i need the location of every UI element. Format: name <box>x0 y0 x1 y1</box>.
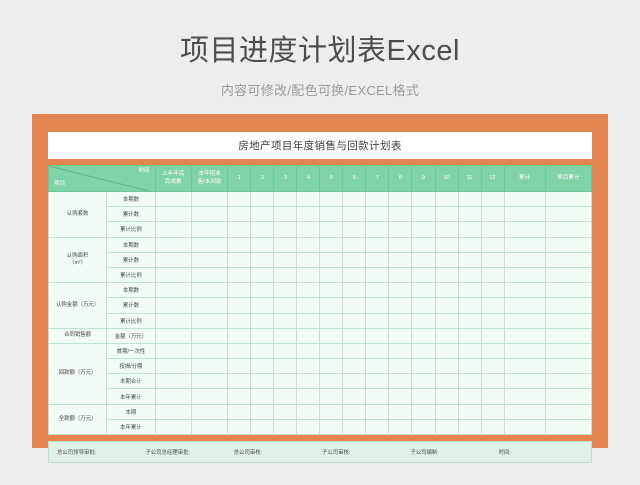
data-cell[interactable] <box>435 419 458 434</box>
data-cell[interactable] <box>155 267 191 282</box>
data-cell[interactable] <box>481 207 504 222</box>
data-cell[interactable] <box>251 374 274 389</box>
data-cell[interactable] <box>435 313 458 328</box>
row-sub-label: 本期数 <box>107 237 155 252</box>
data-cell[interactable] <box>320 404 343 419</box>
data-cell[interactable] <box>545 252 591 267</box>
data-cell[interactable] <box>274 237 297 252</box>
data-cell[interactable] <box>228 404 251 419</box>
data-cell[interactable] <box>192 207 228 222</box>
data-cell[interactable] <box>192 192 228 207</box>
row-sub-label: 本期合计 <box>107 374 155 389</box>
table-row[interactable]: 累计数 <box>49 207 592 222</box>
header-prev-year-l2: 完成数 <box>165 179 182 185</box>
data-cell[interactable] <box>251 389 274 404</box>
data-cell[interactable] <box>389 252 412 267</box>
data-cell[interactable] <box>504 328 545 343</box>
data-cell[interactable] <box>389 328 412 343</box>
data-cell[interactable] <box>481 298 504 313</box>
data-cell[interactable] <box>504 237 545 252</box>
data-cell[interactable] <box>228 374 251 389</box>
data-cell[interactable] <box>274 343 297 358</box>
data-cell[interactable] <box>545 207 591 222</box>
data-cell[interactable] <box>228 283 251 298</box>
data-cell[interactable] <box>435 237 458 252</box>
header-project-total: 项目累计 <box>545 166 591 192</box>
data-cell[interactable] <box>504 298 545 313</box>
data-cell[interactable] <box>504 404 545 419</box>
data-cell[interactable] <box>389 222 412 237</box>
data-cell[interactable] <box>458 359 481 374</box>
data-cell[interactable] <box>481 328 504 343</box>
data-cell[interactable] <box>545 237 591 252</box>
data-cell[interactable] <box>389 419 412 434</box>
data-cell[interactable] <box>251 207 274 222</box>
data-cell[interactable] <box>504 267 545 282</box>
data-cell[interactable] <box>366 404 389 419</box>
data-cell[interactable] <box>504 192 545 207</box>
signature-sub-review: 子公司审核: <box>320 448 408 456</box>
data-cell[interactable] <box>155 419 191 434</box>
data-cell[interactable] <box>458 207 481 222</box>
data-cell[interactable] <box>297 267 320 282</box>
row-group-label: 认购套数 <box>49 192 107 238</box>
data-cell[interactable] <box>545 222 591 237</box>
data-cell[interactable] <box>435 359 458 374</box>
data-cell[interactable] <box>192 237 228 252</box>
data-cell[interactable] <box>435 328 458 343</box>
data-cell[interactable] <box>366 343 389 358</box>
grid-container[interactable]: 项目 时间 上年年底 完成数 本年招末 售/未到款 1 <box>48 165 592 435</box>
data-cell[interactable] <box>274 267 297 282</box>
data-cell[interactable] <box>389 267 412 282</box>
data-cell[interactable] <box>251 298 274 313</box>
data-cell[interactable] <box>192 359 228 374</box>
data-cell[interactable] <box>192 298 228 313</box>
data-cell[interactable] <box>251 192 274 207</box>
data-cell[interactable] <box>366 419 389 434</box>
data-cell[interactable] <box>320 359 343 374</box>
table-row[interactable]: 本年累计 <box>49 389 592 404</box>
data-cell[interactable] <box>251 404 274 419</box>
data-cell[interactable] <box>412 374 435 389</box>
data-cell[interactable] <box>343 404 366 419</box>
data-cell[interactable] <box>320 252 343 267</box>
table-row[interactable]: 累计比例 <box>49 267 592 282</box>
data-cell[interactable] <box>320 237 343 252</box>
data-cell[interactable] <box>389 298 412 313</box>
data-cell[interactable] <box>155 374 191 389</box>
data-cell[interactable] <box>274 404 297 419</box>
data-cell[interactable] <box>412 404 435 419</box>
data-cell[interactable] <box>155 404 191 419</box>
data-cell[interactable] <box>366 192 389 207</box>
data-cell[interactable] <box>458 252 481 267</box>
data-cell[interactable] <box>155 283 191 298</box>
data-cell[interactable] <box>458 404 481 419</box>
data-cell[interactable] <box>251 359 274 374</box>
data-cell[interactable] <box>504 252 545 267</box>
data-cell[interactable] <box>481 267 504 282</box>
data-cell[interactable] <box>320 283 343 298</box>
data-cell[interactable] <box>481 222 504 237</box>
data-cell[interactable] <box>251 252 274 267</box>
data-cell[interactable] <box>320 374 343 389</box>
data-cell[interactable] <box>297 252 320 267</box>
data-cell[interactable] <box>192 419 228 434</box>
row-sub-label: 累计比例 <box>107 313 155 328</box>
data-cell[interactable] <box>274 192 297 207</box>
table-row[interactable]: 本年累计 <box>49 419 592 434</box>
data-cell[interactable] <box>389 389 412 404</box>
data-cell[interactable] <box>192 343 228 358</box>
data-cell[interactable] <box>251 419 274 434</box>
data-cell[interactable] <box>192 374 228 389</box>
data-cell[interactable] <box>343 298 366 313</box>
data-cell[interactable] <box>458 419 481 434</box>
data-cell[interactable] <box>274 328 297 343</box>
data-cell[interactable] <box>412 207 435 222</box>
data-cell[interactable] <box>320 298 343 313</box>
data-cell[interactable] <box>458 389 481 404</box>
data-cell[interactable] <box>343 419 366 434</box>
data-cell[interactable] <box>545 419 591 434</box>
data-cell[interactable] <box>274 359 297 374</box>
data-cell[interactable] <box>228 389 251 404</box>
data-cell[interactable] <box>343 283 366 298</box>
data-cell[interactable] <box>389 207 412 222</box>
data-cell[interactable] <box>412 389 435 404</box>
data-cell[interactable] <box>481 283 504 298</box>
data-cell[interactable] <box>155 328 191 343</box>
data-cell[interactable] <box>435 283 458 298</box>
data-cell[interactable] <box>297 404 320 419</box>
data-cell[interactable] <box>366 359 389 374</box>
header-month-11: 11 <box>458 166 481 192</box>
data-cell[interactable] <box>297 237 320 252</box>
data-cell[interactable] <box>251 283 274 298</box>
data-cell[interactable] <box>366 222 389 237</box>
data-cell[interactable] <box>274 419 297 434</box>
data-cell[interactable] <box>412 252 435 267</box>
data-cell[interactable] <box>297 222 320 237</box>
data-cell[interactable] <box>228 343 251 358</box>
table-row[interactable]: 回款额（万元）首期/一次性 <box>49 343 592 358</box>
data-cell[interactable] <box>545 359 591 374</box>
data-cell[interactable] <box>389 237 412 252</box>
data-cell[interactable] <box>228 207 251 222</box>
data-cell[interactable] <box>274 374 297 389</box>
data-cell[interactable] <box>545 283 591 298</box>
data-cell[interactable] <box>458 328 481 343</box>
data-cell[interactable] <box>155 192 191 207</box>
data-cell[interactable] <box>545 374 591 389</box>
data-cell[interactable] <box>155 313 191 328</box>
header-month-7: 7 <box>366 166 389 192</box>
data-cell[interactable] <box>155 359 191 374</box>
data-cell[interactable] <box>192 389 228 404</box>
data-cell[interactable] <box>274 252 297 267</box>
data-cell[interactable] <box>545 298 591 313</box>
data-cell[interactable] <box>228 222 251 237</box>
header-row: 项目 时间 上年年底 完成数 本年招末 售/未到款 1 <box>49 166 592 192</box>
data-cell[interactable] <box>412 359 435 374</box>
data-cell[interactable] <box>228 359 251 374</box>
data-cell[interactable] <box>504 343 545 358</box>
data-cell[interactable] <box>504 207 545 222</box>
data-cell[interactable] <box>320 419 343 434</box>
data-cell[interactable] <box>545 343 591 358</box>
page-subtitle: 内容可修改/配色可换/EXCEL格式 <box>0 82 640 100</box>
data-cell[interactable] <box>481 404 504 419</box>
data-cell[interactable] <box>504 419 545 434</box>
data-cell[interactable] <box>251 222 274 237</box>
data-cell[interactable] <box>389 313 412 328</box>
data-cell[interactable] <box>251 313 274 328</box>
data-cell[interactable] <box>274 222 297 237</box>
data-cell[interactable] <box>458 374 481 389</box>
data-cell[interactable] <box>297 207 320 222</box>
data-cell[interactable] <box>155 222 191 237</box>
data-cell[interactable] <box>251 267 274 282</box>
data-cell[interactable] <box>458 313 481 328</box>
data-cell[interactable] <box>366 328 389 343</box>
header-month-4: 4 <box>297 166 320 192</box>
data-cell[interactable] <box>435 389 458 404</box>
data-cell[interactable] <box>228 298 251 313</box>
data-cell[interactable] <box>412 192 435 207</box>
row-sub-label: 本期数 <box>107 192 155 207</box>
data-cell[interactable] <box>545 313 591 328</box>
data-cell[interactable] <box>192 328 228 343</box>
data-cell[interactable] <box>481 389 504 404</box>
data-cell[interactable] <box>435 404 458 419</box>
data-cell[interactable] <box>366 283 389 298</box>
data-cell[interactable] <box>228 419 251 434</box>
data-cell[interactable] <box>343 328 366 343</box>
table-row[interactable]: 认购套数本期数 <box>49 192 592 207</box>
data-cell[interactable] <box>297 374 320 389</box>
data-cell[interactable] <box>192 252 228 267</box>
spreadsheet-frame: 房地产项目年度销售与回款计划表 <box>32 114 608 448</box>
data-cell[interactable] <box>412 222 435 237</box>
data-cell[interactable] <box>320 313 343 328</box>
data-cell[interactable] <box>435 374 458 389</box>
data-cell[interactable] <box>297 313 320 328</box>
data-cell[interactable] <box>297 419 320 434</box>
data-cell[interactable] <box>320 207 343 222</box>
data-cell[interactable] <box>545 404 591 419</box>
data-cell[interactable] <box>545 328 591 343</box>
data-cell[interactable] <box>435 222 458 237</box>
data-cell[interactable] <box>320 222 343 237</box>
data-cell[interactable] <box>504 313 545 328</box>
data-cell[interactable] <box>481 374 504 389</box>
data-cell[interactable] <box>343 267 366 282</box>
data-cell[interactable] <box>320 328 343 343</box>
table-body[interactable]: 认购套数本期数累计数累计比例认购面积（m²）本期数累计数累计比例认购金额（万元）… <box>49 192 592 435</box>
data-cell[interactable] <box>366 298 389 313</box>
data-cell[interactable] <box>155 343 191 358</box>
data-cell[interactable] <box>297 298 320 313</box>
data-cell[interactable] <box>412 343 435 358</box>
sheet-title-text: 房地产项目年度销售与回款计划表 <box>238 138 402 153</box>
data-cell[interactable] <box>412 328 435 343</box>
table-row[interactable]: 本期合计 <box>49 374 592 389</box>
plan-table[interactable]: 项目 时间 上年年底 完成数 本年招末 售/未到款 1 <box>48 165 592 435</box>
data-cell[interactable] <box>481 252 504 267</box>
data-cell[interactable] <box>251 343 274 358</box>
data-cell[interactable] <box>343 252 366 267</box>
data-cell[interactable] <box>343 192 366 207</box>
data-cell[interactable] <box>458 267 481 282</box>
data-cell[interactable] <box>435 298 458 313</box>
data-cell[interactable] <box>366 313 389 328</box>
data-cell[interactable] <box>389 343 412 358</box>
data-cell[interactable] <box>412 283 435 298</box>
data-cell[interactable] <box>504 374 545 389</box>
data-cell[interactable] <box>297 359 320 374</box>
data-cell[interactable] <box>458 283 481 298</box>
signature-hq-leader-approval: 总公司领导审批: <box>55 448 143 456</box>
data-cell[interactable] <box>155 237 191 252</box>
table-row[interactable]: 按揭/分期 <box>49 359 592 374</box>
data-cell[interactable] <box>458 192 481 207</box>
data-cell[interactable] <box>366 374 389 389</box>
data-cell[interactable] <box>435 192 458 207</box>
row-sub-label: 累计数 <box>107 207 155 222</box>
data-cell[interactable] <box>366 252 389 267</box>
data-cell[interactable] <box>155 252 191 267</box>
data-cell[interactable] <box>389 404 412 419</box>
data-cell[interactable] <box>504 283 545 298</box>
data-cell[interactable] <box>228 313 251 328</box>
data-cell[interactable] <box>192 222 228 237</box>
row-sub-label: 累计数 <box>107 298 155 313</box>
data-cell[interactable] <box>458 343 481 358</box>
table-row[interactable]: 认购面积（m²）本期数 <box>49 237 592 252</box>
data-cell[interactable] <box>228 237 251 252</box>
data-cell[interactable] <box>297 343 320 358</box>
table-row[interactable]: 累计数 <box>49 298 592 313</box>
data-cell[interactable] <box>481 343 504 358</box>
data-cell[interactable] <box>274 207 297 222</box>
data-cell[interactable] <box>389 374 412 389</box>
data-cell[interactable] <box>274 389 297 404</box>
data-cell[interactable] <box>343 222 366 237</box>
data-cell[interactable] <box>274 313 297 328</box>
data-cell[interactable] <box>274 283 297 298</box>
row-sub-label: 首期/一次性 <box>107 343 155 358</box>
table-row[interactable]: 累计数 <box>49 252 592 267</box>
data-cell[interactable] <box>343 374 366 389</box>
data-cell[interactable] <box>412 313 435 328</box>
spreadsheet: 房地产项目年度销售与回款计划表 <box>48 132 592 434</box>
data-cell[interactable] <box>435 343 458 358</box>
data-cell[interactable] <box>545 192 591 207</box>
data-cell[interactable] <box>228 328 251 343</box>
data-cell[interactable] <box>192 313 228 328</box>
table-row[interactable]: 认购金额（万元）本期数 <box>49 283 592 298</box>
data-cell[interactable] <box>343 389 366 404</box>
data-cell[interactable] <box>251 237 274 252</box>
data-cell[interactable] <box>192 283 228 298</box>
data-cell[interactable] <box>458 298 481 313</box>
data-cell[interactable] <box>435 267 458 282</box>
data-cell[interactable] <box>343 207 366 222</box>
page-title: 项目进度计划表Excel <box>0 34 640 68</box>
data-cell[interactable] <box>155 389 191 404</box>
data-cell[interactable] <box>320 192 343 207</box>
data-cell[interactable] <box>251 328 274 343</box>
data-cell[interactable] <box>366 389 389 404</box>
data-cell[interactable] <box>320 389 343 404</box>
data-cell[interactable] <box>192 404 228 419</box>
data-cell[interactable] <box>366 207 389 222</box>
data-cell[interactable] <box>343 359 366 374</box>
data-cell[interactable] <box>458 237 481 252</box>
data-cell[interactable] <box>297 192 320 207</box>
data-cell[interactable] <box>228 252 251 267</box>
data-cell[interactable] <box>320 343 343 358</box>
data-cell[interactable] <box>481 359 504 374</box>
data-cell[interactable] <box>504 389 545 404</box>
header-month-9: 9 <box>412 166 435 192</box>
data-cell[interactable] <box>192 267 228 282</box>
data-cell[interactable] <box>389 283 412 298</box>
data-cell[interactable] <box>412 298 435 313</box>
data-cell[interactable] <box>504 222 545 237</box>
data-cell[interactable] <box>343 343 366 358</box>
data-cell[interactable] <box>481 313 504 328</box>
data-cell[interactable] <box>481 237 504 252</box>
data-cell[interactable] <box>274 298 297 313</box>
data-cell[interactable] <box>366 267 389 282</box>
data-cell[interactable] <box>412 419 435 434</box>
row-group-label: 全款额（万元） <box>49 404 107 434</box>
data-cell[interactable] <box>389 359 412 374</box>
data-cell[interactable] <box>320 267 343 282</box>
data-cell[interactable] <box>228 267 251 282</box>
table-row[interactable]: 合同销售额金额（万元） <box>49 328 592 343</box>
data-cell[interactable] <box>366 237 389 252</box>
data-cell[interactable] <box>412 237 435 252</box>
table-row[interactable]: 累计比例 <box>49 222 592 237</box>
table-row[interactable]: 全款额（万元）本期 <box>49 404 592 419</box>
data-cell[interactable] <box>458 222 481 237</box>
data-cell[interactable] <box>343 313 366 328</box>
data-cell[interactable] <box>481 192 504 207</box>
data-cell[interactable] <box>435 207 458 222</box>
data-cell[interactable] <box>155 207 191 222</box>
data-cell[interactable] <box>228 192 251 207</box>
table-row[interactable]: 累计比例 <box>49 313 592 328</box>
data-cell[interactable] <box>297 328 320 343</box>
data-cell[interactable] <box>412 267 435 282</box>
data-cell[interactable] <box>504 359 545 374</box>
row-sub-label: 本年累计 <box>107 389 155 404</box>
data-cell[interactable] <box>297 283 320 298</box>
data-cell[interactable] <box>435 252 458 267</box>
data-cell[interactable] <box>297 389 320 404</box>
data-cell[interactable] <box>545 389 591 404</box>
data-cell[interactable] <box>481 419 504 434</box>
data-cell[interactable] <box>343 237 366 252</box>
data-cell[interactable] <box>155 298 191 313</box>
signature-row: 总公司领导审批: 子公司总经理审批: 总公司审核: 子公司审核: 子公司编制: … <box>48 441 592 463</box>
data-cell[interactable] <box>389 192 412 207</box>
data-cell[interactable] <box>545 267 591 282</box>
